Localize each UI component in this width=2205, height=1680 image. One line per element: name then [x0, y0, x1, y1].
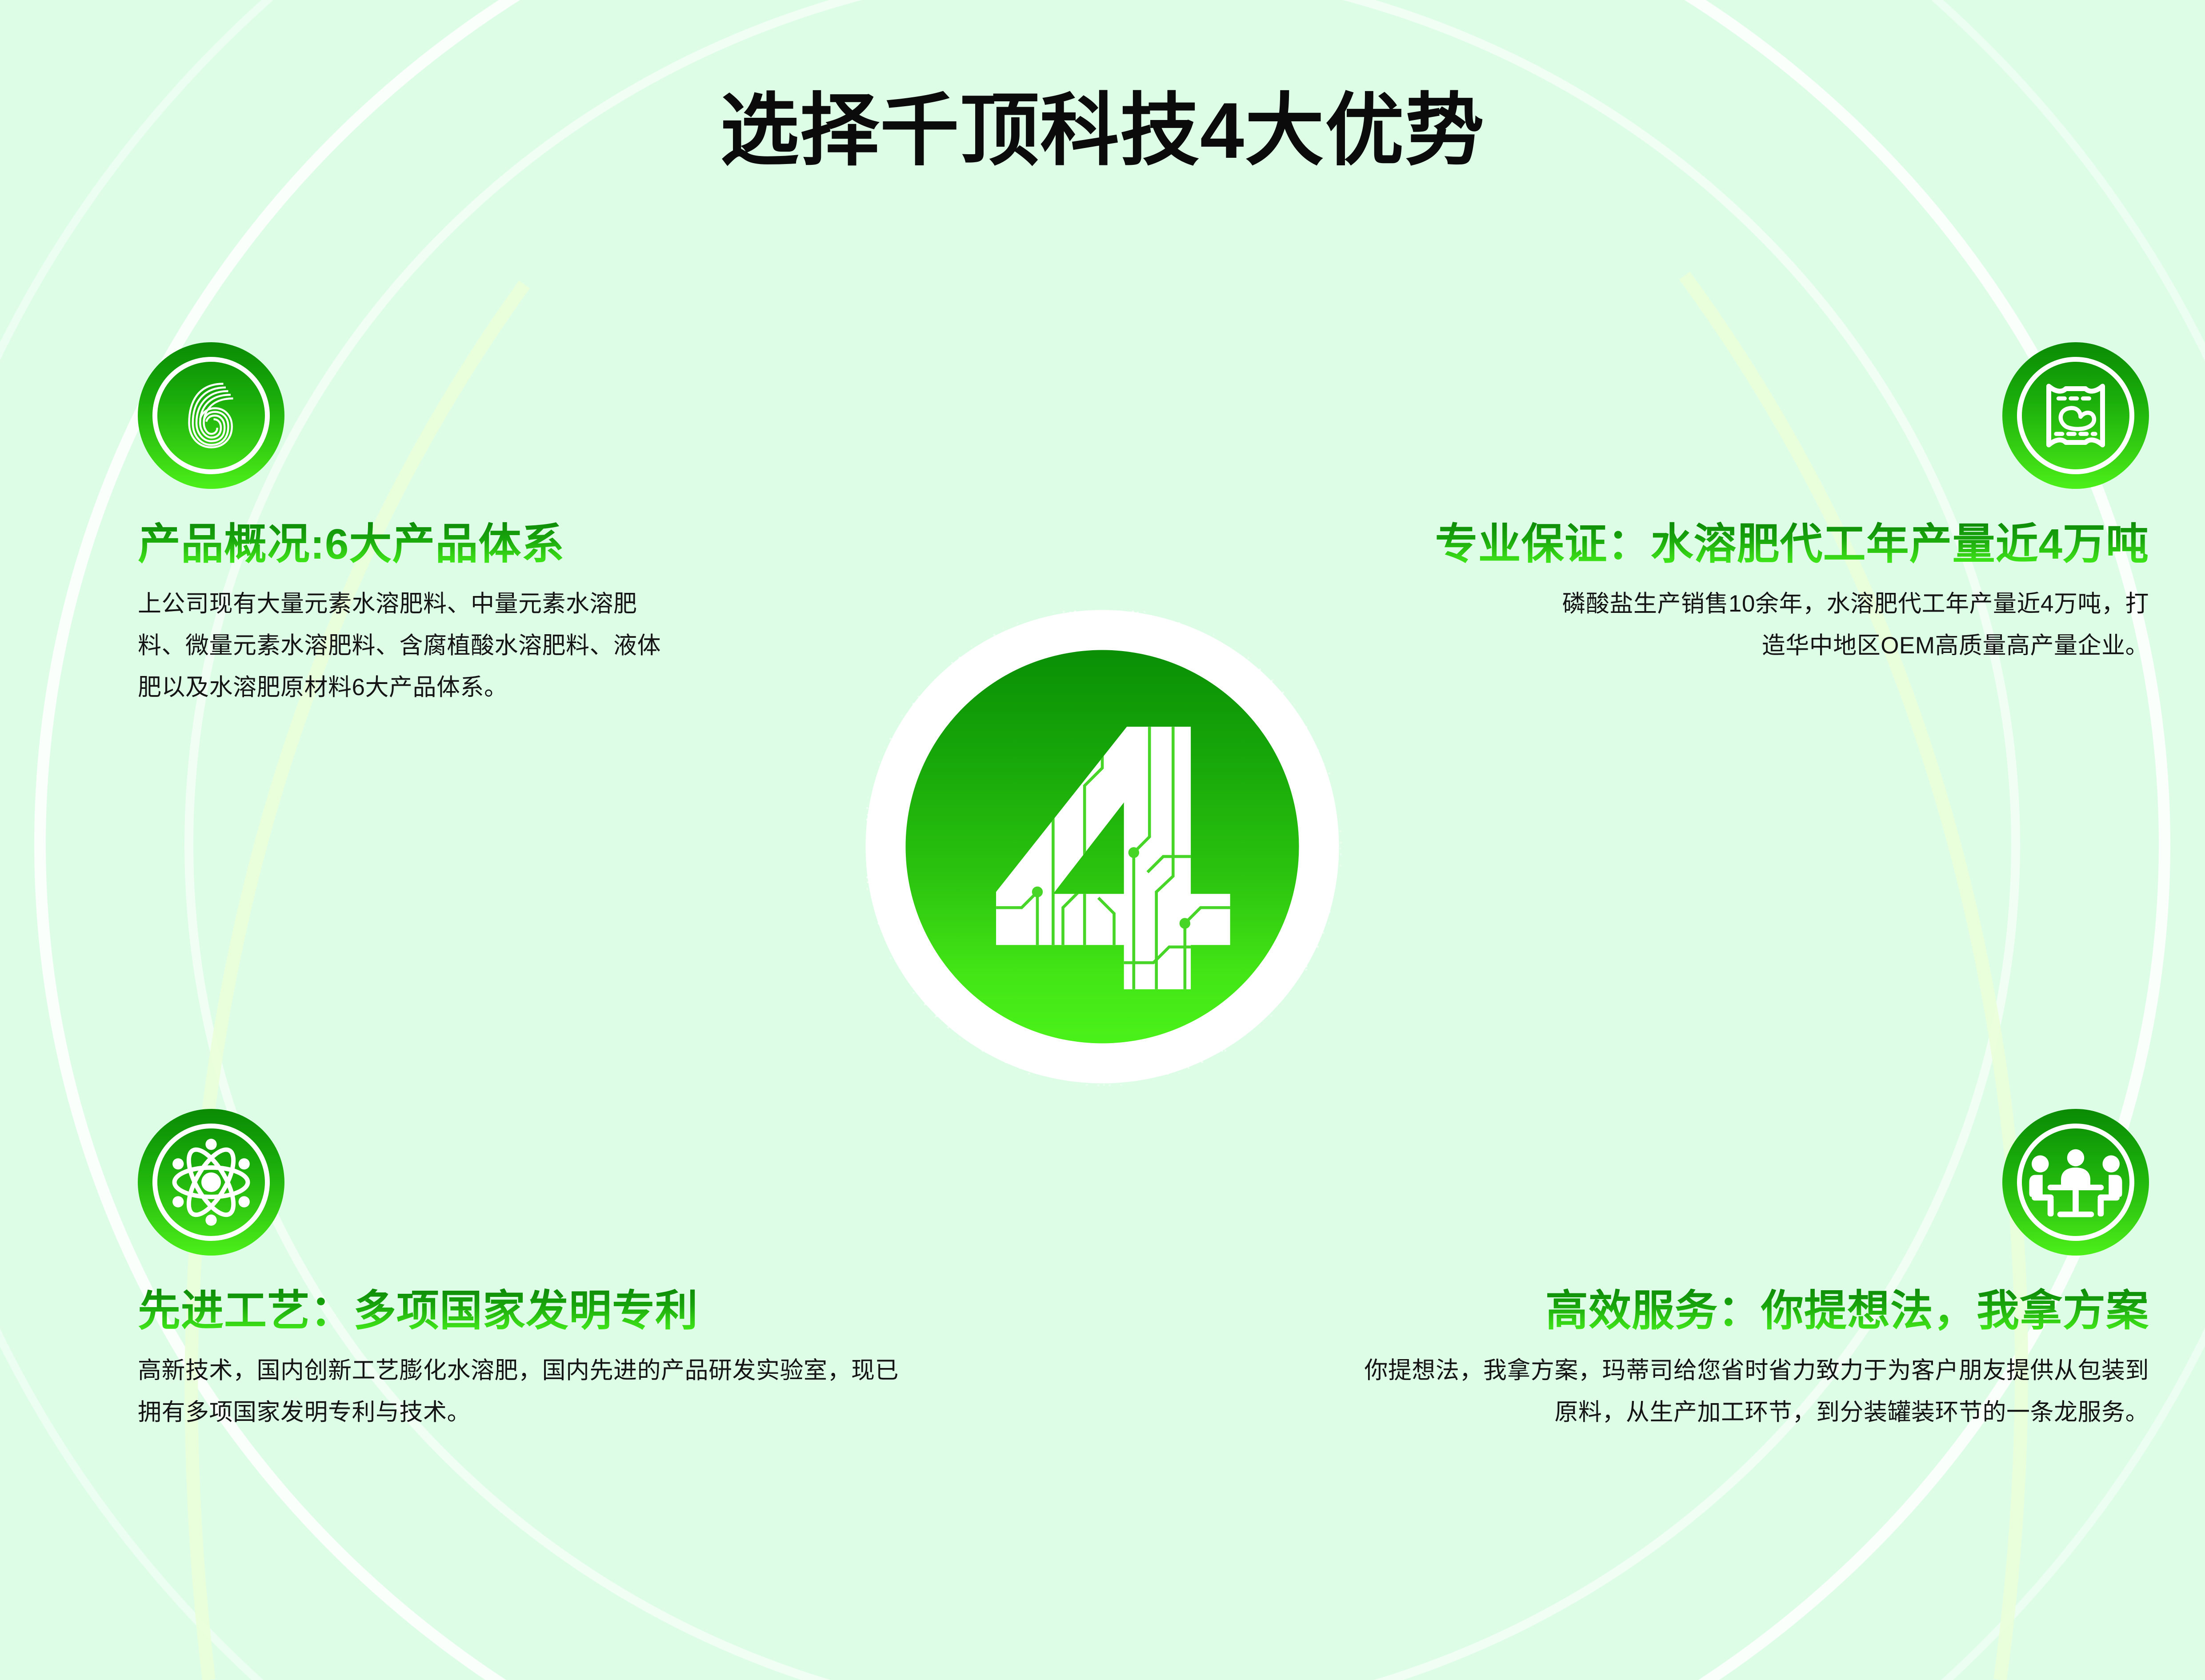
atom-icon [138, 1109, 284, 1256]
advantage-heading: 高效服务：你提想法，我拿方案 [1338, 1288, 2149, 1335]
fertilizer-bag-icon [2002, 342, 2149, 489]
advantage-card-top-right: 专业保证：水溶肥代工年产量近4万吨 磷酸盐生产销售10余年，水溶肥代工年产量近4… [1207, 342, 2149, 667]
meeting-people-icon [2002, 1109, 2149, 1256]
advantage-body: 上公司现有大量元素水溶肥料、中量元素水溶肥料、微量元素水溶肥料、含腐植酸水溶肥料… [138, 583, 684, 709]
advantage-card-bottom-right: 高效服务：你提想法，我拿方案 你提想法，我拿方案，玛蒂司给您省时省力致力于为客户… [1338, 1109, 2149, 1433]
advantage-card-bottom-left: 先进工艺：多项国家发明专利 高新技术，国内创新工艺膨化水溶肥，国内先进的产品研发… [138, 1109, 938, 1433]
advantage-body: 你提想法，我拿方案，玛蒂司给您省时省力致力于为客户朋友提供从包装到原料，从生产加… [1353, 1350, 2149, 1434]
advantage-heading: 专业保证：水溶肥代工年产量近4万吨 [1207, 521, 2149, 568]
center-number-circle [906, 650, 1299, 1044]
advantage-card-top-left: 6 产品概况:6大产品体系 上公司现有大量元素水溶肥料、中量元素水溶肥料、微量元… [138, 342, 707, 709]
advantage-body: 高新技术，国内创新工艺膨化水溶肥，国内先进的产品研发实验室，现已拥有多项国家发明… [138, 1350, 911, 1434]
page-title: 选择千顶科技4大优势 [0, 91, 2205, 170]
infographic-canvas: 选择千顶科技4大优势 [0, 0, 2205, 1680]
advantage-body: 磷酸盐生产销售10余年，水溶肥代工年产量近4万吨，打造华中地区OEM高质量高产量… [1547, 583, 2149, 667]
advantage-heading: 先进工艺：多项国家发明专利 [138, 1288, 938, 1335]
number-six-badge-icon: 6 [138, 342, 284, 489]
number-four-circuit-icon [906, 650, 1299, 1044]
advantage-heading: 产品概况:6大产品体系 [138, 521, 707, 568]
